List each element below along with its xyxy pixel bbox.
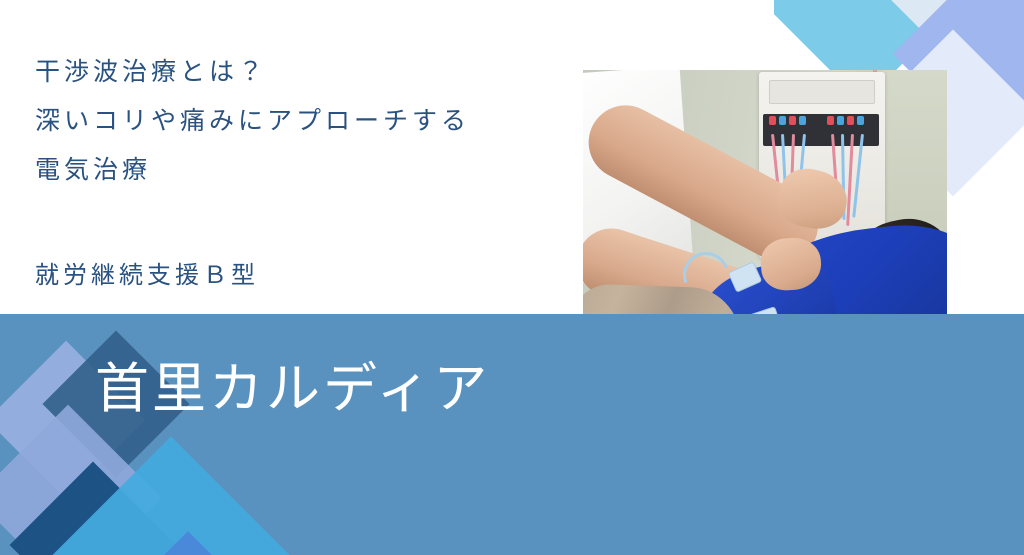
machine-port-red-2	[789, 116, 796, 125]
machine-port-red-3	[827, 116, 834, 125]
headline-line-2: 深いコリや痛みにアプローチする	[35, 97, 575, 146]
machine-port-blue-2	[799, 116, 806, 125]
machine-port-blue-4	[857, 116, 864, 125]
headline-line-3: 電気治療	[35, 146, 575, 195]
headline-block: 干渉波治療とは？ 深いコリや痛みにアプローチする 電気治療	[35, 48, 575, 195]
machine-port-blue-3	[837, 116, 844, 125]
service-type-subtitle: 就労継続支援Ｂ型	[35, 255, 259, 290]
machine-port-red-1	[769, 116, 776, 125]
brand-band	[0, 314, 1024, 555]
brand-name: 首里カルディア	[95, 362, 490, 416]
machine-port-red-4	[847, 116, 854, 125]
headline-line-1: 干渉波治療とは？	[35, 48, 575, 97]
presentation-slide: 干渉波治療とは？ 深いコリや痛みにアプローチする 電気治療 就労継続支援Ｂ型	[0, 0, 1024, 555]
pale-blue-diamond-icon	[877, 0, 1024, 71]
machine-port-blue-1	[779, 116, 786, 125]
machine-display-panel	[769, 80, 875, 104]
